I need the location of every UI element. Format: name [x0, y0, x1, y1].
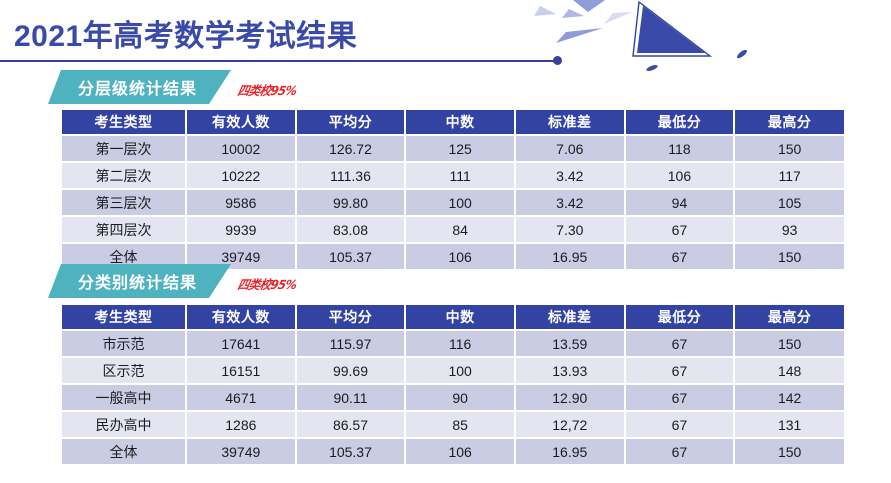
cell-stddev: 12.90: [515, 384, 625, 411]
column-header-median: 中数: [405, 110, 515, 135]
section-layered-results: 分层级统计结果 四类校95%: [0, 70, 891, 104]
cell-count: 1286: [186, 411, 296, 438]
cell-median: 100: [405, 357, 515, 384]
table-header-row: 考生类型 有效人数 平均分 中数 标准差 最低分 最高分: [62, 110, 844, 135]
annotation-category: 四类校95%: [236, 276, 298, 294]
cell-stddev: 3.42: [515, 189, 625, 216]
column-header-stddev: 标准差: [515, 305, 625, 330]
cell-count: 9939: [186, 216, 296, 243]
table-header-row: 考生类型 有效人数 平均分 中数 标准差 最低分 最高分: [62, 305, 844, 330]
cell-max: 150: [734, 330, 844, 357]
cell-type: 第一层次: [62, 135, 186, 162]
column-header-max: 最高分: [734, 110, 844, 135]
cell-type: 第二层次: [62, 162, 186, 189]
cell-count: 17641: [186, 330, 296, 357]
cell-type: 第四层次: [62, 216, 186, 243]
table-row: 区示范 16151 99.69 100 13.93 67 148: [62, 357, 844, 384]
cell-min: 106: [625, 162, 735, 189]
cell-type: 民办高中: [62, 411, 186, 438]
cell-type: 市示范: [62, 330, 186, 357]
cell-min: 67: [625, 384, 735, 411]
cell-min: 94: [625, 189, 735, 216]
cell-median: 111: [405, 162, 515, 189]
cell-max: 93: [734, 216, 844, 243]
cell-median: 84: [405, 216, 515, 243]
cell-median: 90: [405, 384, 515, 411]
cell-max: 105: [734, 189, 844, 216]
section-banner-layered: 分层级统计结果: [48, 70, 231, 104]
large-blue-triangle: [633, 2, 710, 56]
cell-stddev: 7.06: [515, 135, 625, 162]
cell-count: 16151: [186, 357, 296, 384]
cell-type: 区示范: [62, 357, 186, 384]
cell-count: 9586: [186, 189, 296, 216]
cell-type: 第三层次: [62, 189, 186, 216]
cell-count: 4671: [186, 384, 296, 411]
cell-max: 142: [734, 384, 844, 411]
cell-mean: 90.11: [296, 384, 406, 411]
cell-stddev: 7.30: [515, 216, 625, 243]
cell-mean: 86.57: [296, 411, 406, 438]
cell-median: 100: [405, 189, 515, 216]
cell-median: 125: [405, 135, 515, 162]
cell-max: 148: [734, 357, 844, 384]
table-row: 民办高中 1286 86.57 85 12,72 67 131: [62, 411, 844, 438]
cell-stddev: 13.59: [515, 330, 625, 357]
table-row: 第二层次 10222 111.36 111 3.42 106 117: [62, 162, 844, 189]
table-layered-results: 考生类型 有效人数 平均分 中数 标准差 最低分 最高分 第一层次 10002 …: [62, 110, 844, 269]
cell-mean: 99.69: [296, 357, 406, 384]
cell-count: 10002: [186, 135, 296, 162]
cell-max: 150: [734, 135, 844, 162]
table-row: 市示范 17641 115.97 116 13.59 67 150: [62, 330, 844, 357]
banner-wrap-2: 分类别统计结果 四类校95%: [0, 264, 891, 298]
cell-max: 117: [734, 162, 844, 189]
column-header-count: 有效人数: [186, 305, 296, 330]
accent-slivers: [646, 48, 749, 72]
column-header-type: 考生类型: [62, 110, 186, 135]
column-header-mean: 平均分: [296, 110, 406, 135]
cell-count: 39749: [186, 438, 296, 464]
cell-stddev: 3.42: [515, 162, 625, 189]
column-header-min: 最低分: [625, 110, 735, 135]
column-header-max: 最高分: [734, 305, 844, 330]
cell-max: 150: [734, 438, 844, 464]
cell-median: 106: [405, 438, 515, 464]
table-row-total: 全体 39749 105.37 106 16.95 67 150: [62, 438, 844, 464]
section-banner-category: 分类别统计结果: [48, 264, 231, 298]
cell-min: 67: [625, 216, 735, 243]
cell-median: 85: [405, 411, 515, 438]
cell-min: 67: [625, 438, 735, 464]
cell-min: 67: [625, 330, 735, 357]
cell-min: 67: [625, 357, 735, 384]
cell-mean: 105.37: [296, 438, 406, 464]
table-category-results: 考生类型 有效人数 平均分 中数 标准差 最低分 最高分 市示范 17641 1…: [62, 305, 844, 464]
cell-stddev: 16.95: [515, 438, 625, 464]
section-category-results: 分类别统计结果 四类校95%: [0, 264, 891, 298]
column-header-median: 中数: [405, 305, 515, 330]
cell-type: 一般高中: [62, 384, 186, 411]
rule-end-dot: [553, 56, 562, 65]
column-header-stddev: 标准差: [515, 110, 625, 135]
small-triangles-group: [534, 0, 632, 43]
cell-count: 10222: [186, 162, 296, 189]
cell-min: 118: [625, 135, 735, 162]
cell-mean: 126.72: [296, 135, 406, 162]
page-title: 2021年高考数学考试结果: [14, 11, 357, 55]
table-row: 第四层次 9939 83.08 84 7.30 67 93: [62, 216, 844, 243]
cell-min: 67: [625, 411, 735, 438]
cell-mean: 99.80: [296, 189, 406, 216]
cell-median: 116: [405, 330, 515, 357]
cell-max: 131: [734, 411, 844, 438]
table-row: 一般高中 4671 90.11 90 12.90 67 142: [62, 384, 844, 411]
column-header-mean: 平均分: [296, 305, 406, 330]
annotation-layered: 四类校95%: [236, 82, 298, 100]
cell-type: 全体: [62, 438, 186, 464]
cell-mean: 115.97: [296, 330, 406, 357]
table-row: 第三层次 9586 99.80 100 3.42 94 105: [62, 189, 844, 216]
column-header-min: 最低分: [625, 305, 735, 330]
column-header-count: 有效人数: [186, 110, 296, 135]
table-row: 第一层次 10002 126.72 125 7.06 118 150: [62, 135, 844, 162]
title-divider-rule: [0, 60, 557, 62]
cell-mean: 111.36: [296, 162, 406, 189]
column-header-type: 考生类型: [62, 305, 186, 330]
cell-stddev: 13.93: [515, 357, 625, 384]
cell-mean: 83.08: [296, 216, 406, 243]
cell-stddev: 12,72: [515, 411, 625, 438]
banner-wrap-1: 分层级统计结果 四类校95%: [0, 70, 891, 104]
